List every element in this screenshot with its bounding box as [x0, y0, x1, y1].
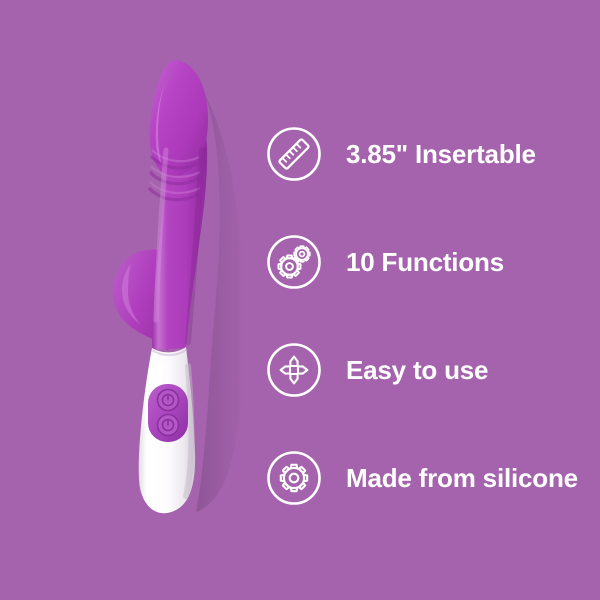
product-illustration [0, 0, 270, 600]
ruler-icon [266, 126, 322, 182]
infographic-canvas: 3.85" Insertable [0, 0, 600, 600]
feature-label: Easy to use [346, 357, 488, 383]
feature-label: 3.85" Insertable [346, 141, 536, 167]
power-button-lower[interactable] [158, 415, 179, 436]
function-button-upper[interactable] [158, 390, 179, 411]
product-shaft [149, 60, 208, 350]
feature-label: Made from silicone [346, 465, 578, 491]
feature-list: 3.85" Insertable [266, 100, 600, 532]
feature-label: 10 Functions [346, 249, 504, 275]
double-gear-icon [266, 234, 322, 290]
feature-row-insertable: 3.85" Insertable [266, 100, 600, 208]
feature-row-easy-to-use: Easy to use [266, 316, 600, 424]
dpad-icon [266, 342, 322, 398]
feature-row-silicone: Made from silicone [266, 424, 600, 532]
gear-icon [266, 450, 322, 506]
feature-row-functions: 10 Functions [266, 208, 600, 316]
control-panel[interactable] [148, 384, 188, 442]
